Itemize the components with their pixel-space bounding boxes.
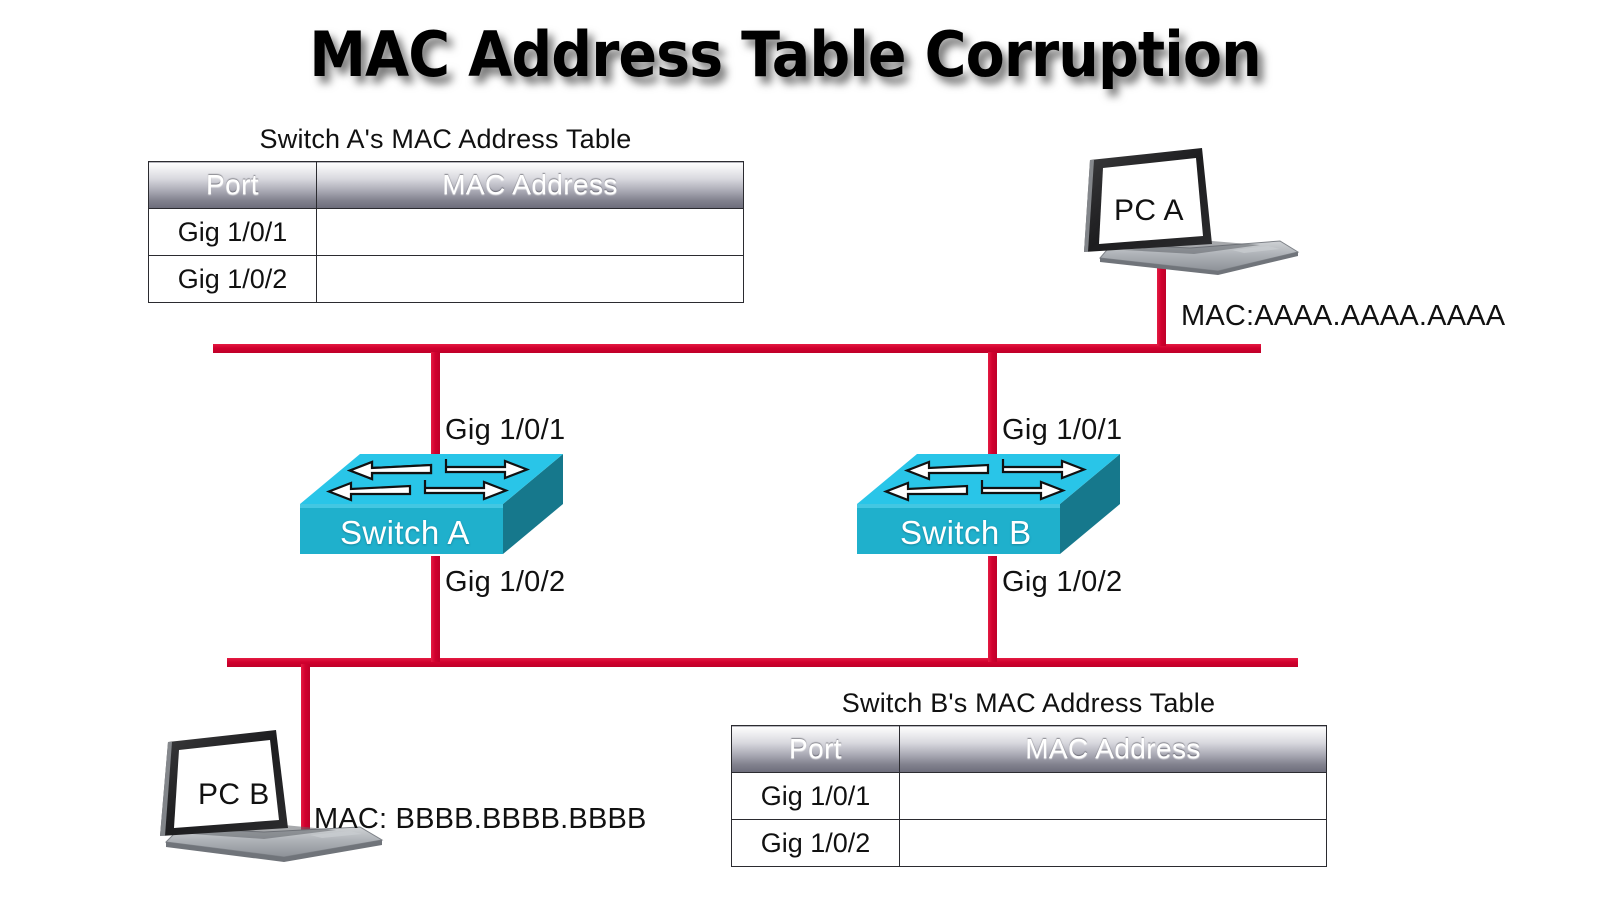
switch-b-mac-table: Port MAC Address Gig 1/0/1 Gig 1/0/2 [731, 725, 1327, 867]
switch-a-table-caption: Switch A's MAC Address Table [148, 124, 743, 155]
laptop-icon [160, 720, 392, 870]
cell-port: Gig 1/0/1 [732, 773, 900, 820]
switch-a-icon: Switch A [298, 446, 568, 564]
page-title: MAC Address Table Corruption [63, 22, 1507, 87]
cell-port: Gig 1/0/1 [149, 209, 317, 256]
cell-mac [900, 820, 1327, 867]
diagram-canvas: MAC Address Table Corruption Switch A's … [0, 0, 1600, 908]
port-label-switch-a-top: Gig 1/0/1 [445, 414, 565, 447]
table-row: Gig 1/0/1 [732, 773, 1327, 820]
pc-b-label: PC B [198, 778, 270, 812]
cell-mac [317, 209, 744, 256]
switch-b-table-caption: Switch B's MAC Address Table [731, 688, 1326, 719]
pc-b-mac-label: MAC: BBBB.BBBB.BBBB [314, 803, 647, 836]
pc-a-label: PC A [1114, 194, 1184, 228]
column-header-port: Port [149, 162, 317, 209]
switch-a-label: Switch A [340, 514, 470, 552]
port-label-switch-a-bottom: Gig 1/0/2 [445, 566, 565, 599]
table-header-row: Port MAC Address [149, 162, 744, 209]
port-label-switch-b-top: Gig 1/0/1 [1002, 414, 1122, 447]
table-header-row: Port MAC Address [732, 726, 1327, 773]
cable-bottom-bus [227, 658, 1298, 667]
cell-port: Gig 1/0/2 [149, 256, 317, 303]
switch-a-mac-table-block: Switch A's MAC Address Table Port MAC Ad… [148, 124, 744, 303]
table-row: Gig 1/0/1 [149, 209, 744, 256]
cell-mac [900, 773, 1327, 820]
port-label-switch-b-bottom: Gig 1/0/2 [1002, 566, 1122, 599]
cable-top-bus [213, 344, 1261, 353]
switch-b-icon: Switch B [855, 446, 1125, 564]
cell-mac [317, 256, 744, 303]
column-header-port: Port [732, 726, 900, 773]
table-row: Gig 1/0/2 [732, 820, 1327, 867]
column-header-mac-address: MAC Address [317, 162, 744, 209]
pc-a-laptop: PC A [1072, 140, 1304, 280]
switch-b-label: Switch B [900, 514, 1032, 552]
cable-switch-b-gig1-0-2 [988, 556, 997, 662]
pc-a-mac-label: MAC:AAAA.AAAA.AAAA [1181, 300, 1505, 333]
laptop-icon [1072, 140, 1304, 280]
cell-port: Gig 1/0/2 [732, 820, 900, 867]
cable-switch-a-gig1-0-2 [431, 556, 440, 662]
column-header-mac-address: MAC Address [900, 726, 1327, 773]
switch-b-mac-table-block: Switch B's MAC Address Table Port MAC Ad… [731, 688, 1327, 867]
switch-a-mac-table: Port MAC Address Gig 1/0/1 Gig 1/0/2 [148, 161, 744, 303]
table-row: Gig 1/0/2 [149, 256, 744, 303]
pc-b-laptop: PC B [160, 720, 392, 870]
